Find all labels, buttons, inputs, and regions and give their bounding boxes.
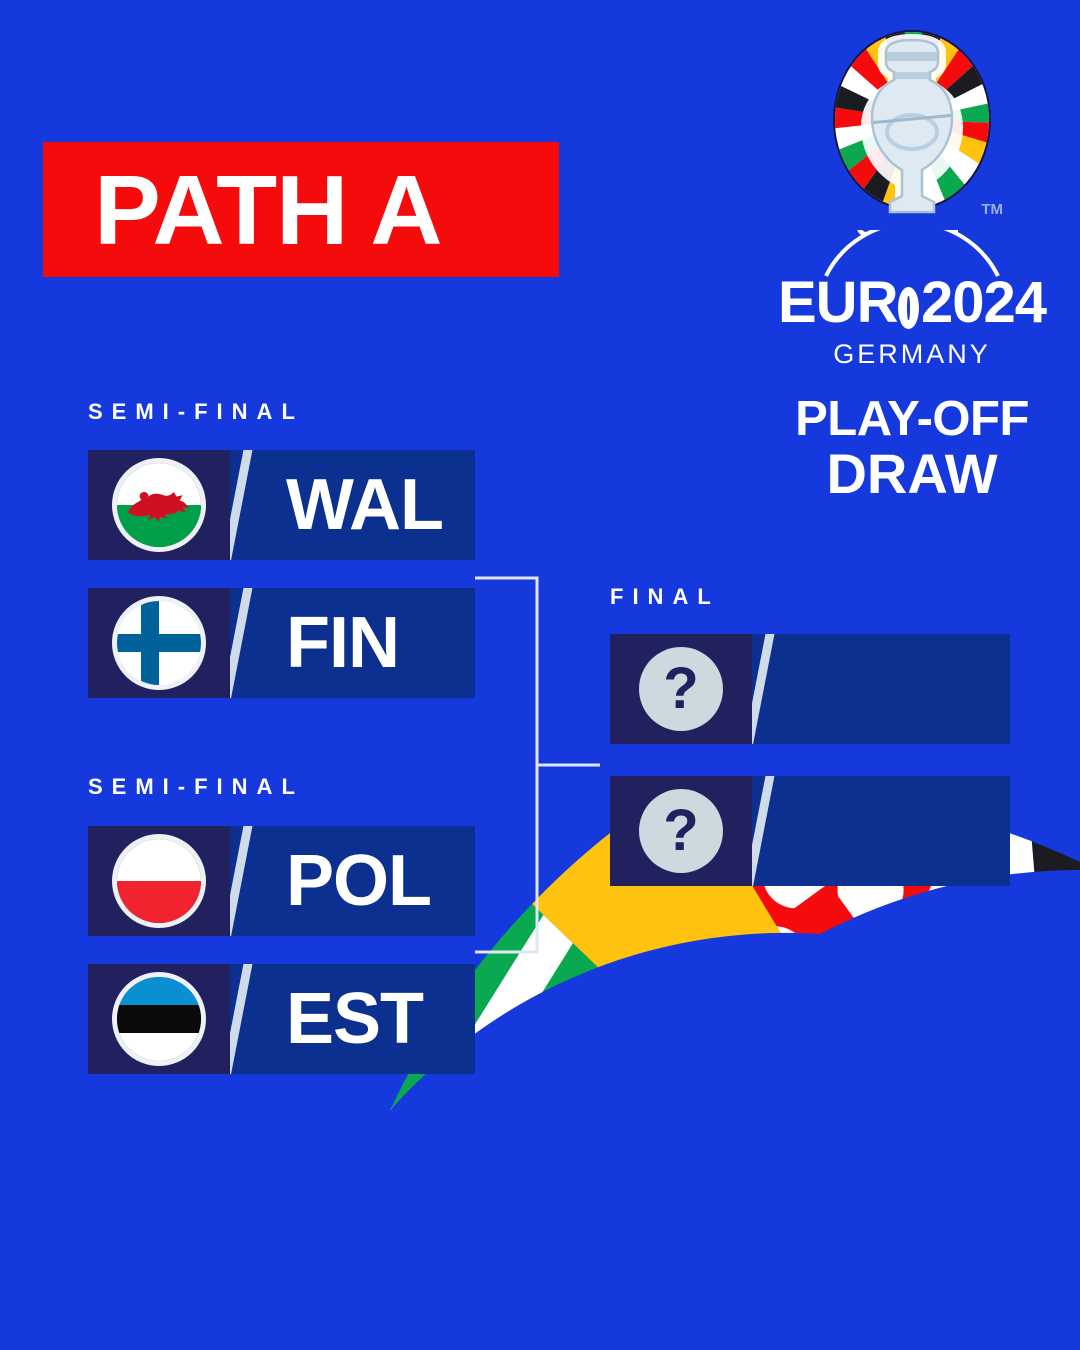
- semi-final-2-team-2-row[interactable]: EST: [88, 964, 475, 1074]
- unknown-team-placeholder-icon: ?: [639, 789, 723, 873]
- semi-final-2-team-1-row[interactable]: POL: [88, 826, 475, 936]
- final-team-1-row[interactable]: ?: [610, 634, 1010, 744]
- team-name-cell: FIN: [256, 588, 475, 698]
- team-code: WAL: [286, 469, 443, 541]
- euro-2024-wordmark: EUR 2024: [778, 274, 1046, 332]
- euro-text: EUR: [778, 274, 897, 332]
- team-code: POL: [286, 845, 431, 917]
- event-title-line1: PLAY-OFF: [778, 395, 1046, 445]
- team-name-cell: [778, 634, 1010, 744]
- poland-flag-icon: [117, 839, 201, 923]
- uefa-euro-trophy-emblem-icon: TM: [827, 28, 997, 224]
- team-flag-cell: ?: [610, 776, 752, 886]
- euro-2024-logo-block: TM UEFA EUR 2024 GERMANY PLAY-OFF DRAW: [778, 28, 1046, 502]
- team-flag-cell: [88, 826, 230, 936]
- final-label: FINAL: [610, 584, 720, 610]
- team-flag-cell: [88, 450, 230, 560]
- team-flag-cell: ?: [610, 634, 752, 744]
- year-text: 2024: [921, 274, 1046, 332]
- euro-o-ring-icon: [898, 287, 919, 329]
- semi-final-1-team-2-row[interactable]: FIN: [88, 588, 475, 698]
- team-name-cell: WAL: [256, 450, 475, 560]
- final-team-2-row[interactable]: ?: [610, 776, 1010, 886]
- trademark-symbol: TM: [981, 201, 1003, 218]
- row-divider-slash: [230, 964, 256, 1074]
- team-flag-cell: [88, 588, 230, 698]
- host-country-label: GERMANY: [778, 339, 1046, 370]
- team-name-cell: EST: [256, 964, 475, 1074]
- team-name-cell: POL: [256, 826, 475, 936]
- finland-flag-icon: [117, 601, 201, 685]
- path-title: PATH A: [39, 161, 441, 259]
- row-divider-slash: [230, 588, 256, 698]
- team-code: EST: [286, 983, 423, 1055]
- team-flag-cell: [88, 964, 230, 1074]
- wales-flag-icon: [117, 463, 201, 547]
- team-code: FIN: [286, 607, 399, 679]
- poster-canvas: PATH A: [0, 0, 1080, 1350]
- semi-final-2-label: SEMI-FINAL: [88, 774, 304, 800]
- row-divider-slash: [752, 776, 778, 886]
- team-name-cell: [778, 776, 1010, 886]
- svg-text:UEFA: UEFA: [847, 230, 976, 245]
- row-divider-slash: [752, 634, 778, 744]
- estonia-flag-icon: [117, 977, 201, 1061]
- row-divider-slash: [230, 826, 256, 936]
- row-divider-slash: [230, 450, 256, 560]
- event-title-line2: DRAW: [778, 445, 1046, 502]
- path-banner: PATH A: [43, 142, 559, 277]
- semi-final-1-label: SEMI-FINAL: [88, 399, 304, 425]
- unknown-team-placeholder-icon: ?: [639, 647, 723, 731]
- semi-final-1-team-1-row[interactable]: WAL: [88, 450, 475, 560]
